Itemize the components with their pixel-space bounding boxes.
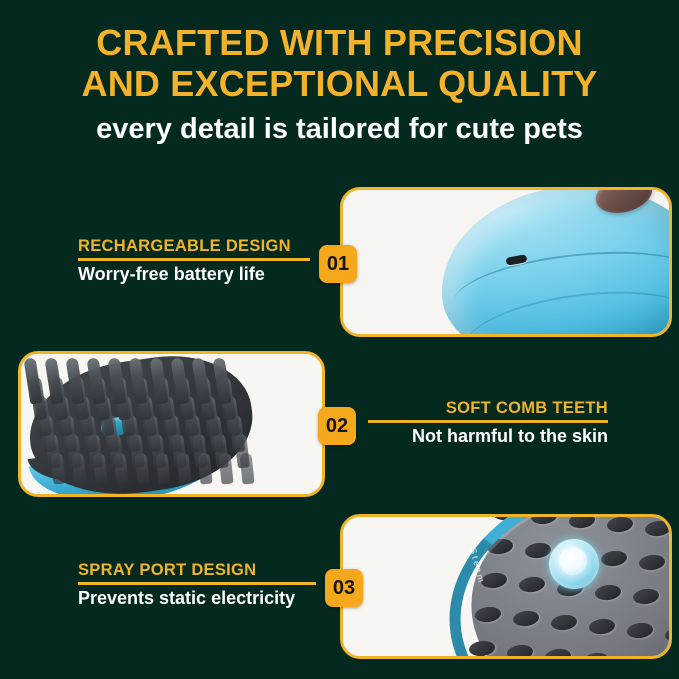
feature-3-title: SPRAY PORT DESIGN bbox=[78, 560, 316, 580]
feature-2-text: SOFT COMB TEETH Not harmful to the skin bbox=[368, 398, 608, 448]
infographic-canvas: CRAFTED WITH PRECISION AND EXCEPTIONAL Q… bbox=[0, 0, 679, 679]
subheadline: every detail is tailored for cute pets bbox=[0, 110, 679, 148]
headline-line-2: AND EXCEPTIONAL QUALITY bbox=[0, 63, 679, 104]
feature-3-number-badge: 03 bbox=[325, 569, 363, 607]
feature-3-subtitle: Prevents static electricity bbox=[78, 587, 316, 610]
feature-3-text: SPRAY PORT DESIGN Prevents static electr… bbox=[78, 560, 316, 610]
feature-2-number-badge: 02 bbox=[318, 407, 356, 445]
photo-rechargeable-design bbox=[343, 190, 669, 334]
feature-3-divider bbox=[78, 582, 316, 585]
feature-1-subtitle: Worry-free battery life bbox=[78, 263, 310, 286]
photo-spray-port-design: Steam bbox=[343, 517, 669, 656]
massage-nub bbox=[670, 591, 672, 609]
feature-1-text: RECHARGEABLE DESIGN Worry-free battery l… bbox=[78, 236, 310, 286]
feature-1-divider bbox=[78, 258, 310, 261]
header-block: CRAFTED WITH PRECISION AND EXCEPTIONAL Q… bbox=[0, 22, 679, 148]
massage-nub bbox=[620, 655, 648, 659]
feature-2-title: SOFT COMB TEETH bbox=[368, 398, 608, 418]
feature-2-divider bbox=[368, 420, 608, 423]
product-photo-panel-3: Steam bbox=[340, 514, 672, 659]
product-photo-panel-2 bbox=[18, 351, 325, 497]
product-photo-panel-1 bbox=[340, 187, 672, 337]
feature-2-subtitle: Not harmful to the skin bbox=[368, 425, 608, 448]
spray-port-highlight bbox=[559, 547, 587, 575]
headline-line-1: CRAFTED WITH PRECISION bbox=[0, 22, 679, 63]
photo-soft-comb-teeth bbox=[21, 354, 322, 494]
feature-1-number-badge: 01 bbox=[319, 245, 357, 283]
feature-1-title: RECHARGEABLE DESIGN bbox=[78, 236, 310, 256]
